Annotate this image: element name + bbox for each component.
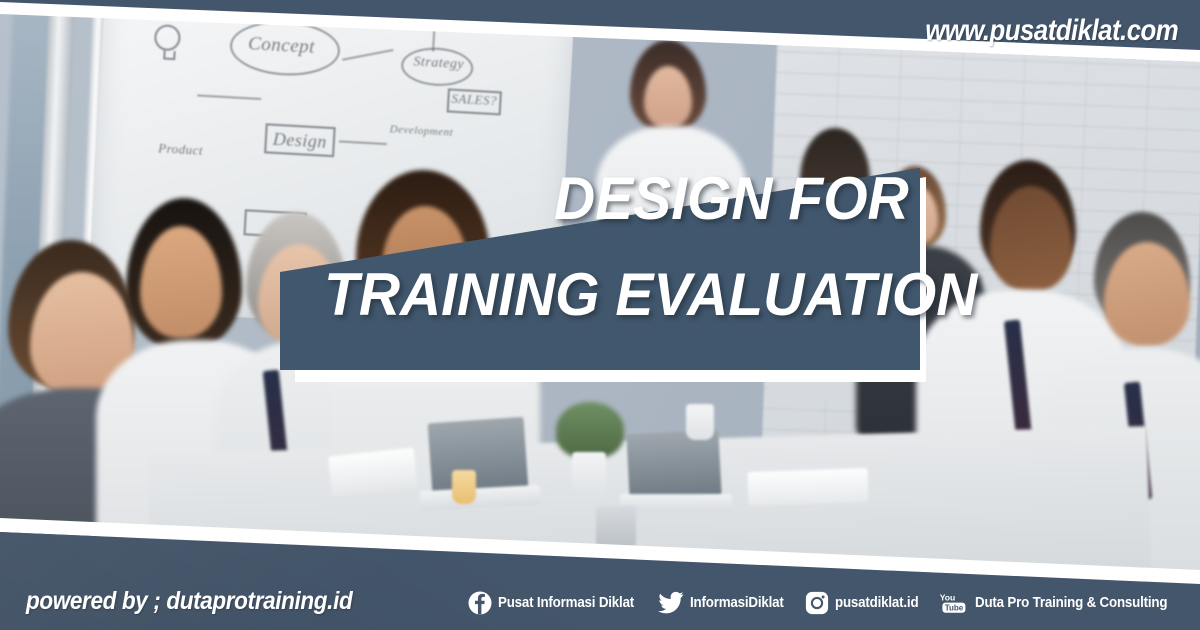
whiteboard-note-concept: Concept — [248, 33, 316, 59]
whiteboard-note-sales: SALES? — [451, 91, 497, 110]
paper-sheet — [747, 468, 868, 506]
social-link-twitter[interactable]: InformasiDiklat — [658, 591, 792, 615]
svg-text:You: You — [940, 593, 956, 603]
cup — [452, 470, 476, 504]
connector-line — [197, 94, 261, 100]
laptop-base — [620, 494, 732, 512]
poster-canvas: Concept Research Design Strategy SALES? … — [0, 0, 1200, 630]
whiteboard-note-strategy: Strategy — [413, 54, 464, 73]
social-link-facebook[interactable]: Pusat Informasi Diklat — [468, 591, 646, 615]
twitter-icon — [658, 591, 684, 615]
social-link-instagram[interactable]: pusatdiklat.id — [805, 591, 926, 615]
laptop-screen — [428, 417, 529, 496]
instagram-icon — [805, 591, 829, 615]
youtube-icon: You Tube — [939, 591, 969, 615]
site-url[interactable]: www.pusatdiklat.com — [925, 14, 1178, 48]
whiteboard-note-design: Design — [272, 129, 327, 153]
social-links: Pusat Informasi Diklat InformasiDiklat p… — [468, 591, 1184, 615]
vase — [572, 452, 606, 494]
connector-line — [339, 140, 387, 145]
social-label-instagram: pusatdiklat.id — [835, 595, 918, 611]
social-label-youtube: Duta Pro Training & Consulting — [975, 595, 1167, 611]
svg-text:Tube: Tube — [945, 604, 964, 613]
social-label-facebook: Pusat Informasi Diklat — [498, 595, 634, 611]
powered-by-text: powered by ; dutaprotraining.id — [26, 587, 352, 616]
connector-line — [342, 49, 393, 61]
glass — [686, 404, 714, 440]
whiteboard-note-product: Product — [158, 140, 204, 158]
bulb-sketch-icon — [154, 24, 181, 51]
social-link-youtube[interactable]: You Tube Duta Pro Training & Consulting — [939, 591, 1184, 615]
plant-leaves — [556, 402, 624, 458]
social-label-twitter: InformasiDiklat — [690, 595, 784, 611]
whiteboard-note-development: Development — [389, 123, 453, 139]
laptop-screen — [626, 430, 721, 501]
facebook-icon — [468, 591, 492, 615]
mug — [596, 506, 636, 550]
